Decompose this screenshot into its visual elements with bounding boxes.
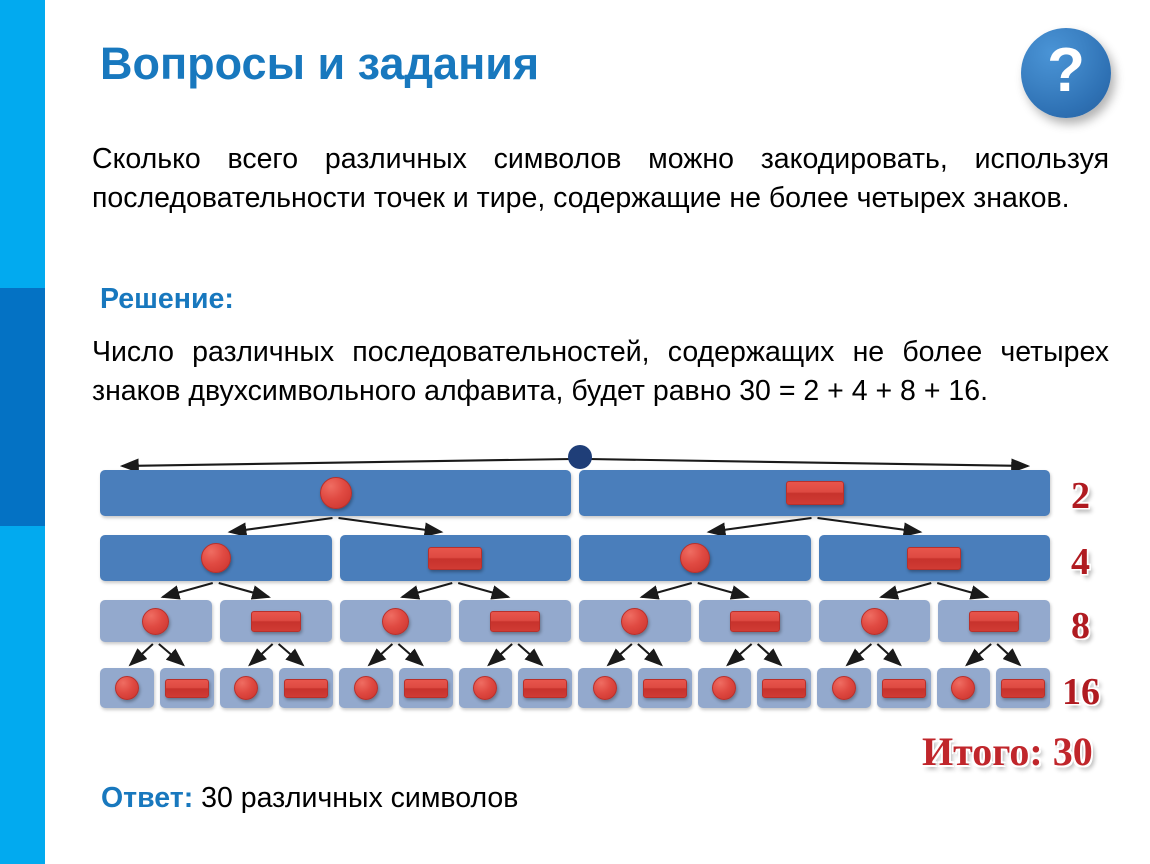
tree-node-level1-2 bbox=[579, 470, 1050, 516]
level-count-3: 8 bbox=[1071, 604, 1090, 648]
tree-node-level3-4 bbox=[459, 600, 571, 642]
morse-dot-icon bbox=[951, 676, 975, 700]
morse-dash-icon bbox=[762, 679, 806, 698]
tree-node-level4-10 bbox=[638, 668, 692, 708]
solution-label: Решение: bbox=[100, 283, 234, 316]
morse-dash-icon bbox=[969, 611, 1019, 632]
tree-node-level3-5 bbox=[579, 600, 691, 642]
tree-node-level4-5 bbox=[339, 668, 393, 708]
morse-dash-icon bbox=[882, 679, 926, 698]
tree-node-level4-15 bbox=[937, 668, 991, 708]
answer-line: Ответ: 30 различных символов bbox=[101, 782, 518, 815]
morse-dot-icon bbox=[712, 676, 736, 700]
morse-dot-icon bbox=[593, 676, 617, 700]
slide-root: ? Вопросы и задания Сколько всего различ… bbox=[0, 0, 1150, 864]
morse-dash-icon bbox=[490, 611, 540, 632]
tree-node-level4-7 bbox=[459, 668, 513, 708]
morse-dot-icon bbox=[115, 676, 139, 700]
morse-dot-icon bbox=[832, 676, 856, 700]
morse-dot-icon bbox=[621, 608, 648, 635]
morse-dash-icon bbox=[165, 679, 209, 698]
morse-dash-icon bbox=[786, 481, 844, 505]
morse-dot-icon bbox=[680, 543, 710, 573]
tree-node-level4-12 bbox=[757, 668, 811, 708]
tree-node-level3-7 bbox=[819, 600, 931, 642]
question-mark-icon[interactable]: ? bbox=[1021, 28, 1111, 118]
answer-label: Ответ: bbox=[101, 782, 193, 814]
answer-value: 30 различных символов bbox=[193, 782, 518, 814]
morse-dot-icon bbox=[201, 543, 231, 573]
level-count-4: 16 bbox=[1062, 670, 1100, 714]
question-mark-glyph: ? bbox=[1047, 40, 1085, 102]
tree-node-level2-2 bbox=[340, 535, 572, 581]
morse-dot-icon bbox=[861, 608, 888, 635]
tree-node-level2-3 bbox=[579, 535, 811, 581]
tree-node-level4-3 bbox=[220, 668, 274, 708]
morse-dot-icon bbox=[473, 676, 497, 700]
morse-dot-icon bbox=[382, 608, 409, 635]
tree-node-level4-9 bbox=[578, 668, 632, 708]
morse-dash-icon bbox=[907, 547, 961, 570]
tree-node-level4-4 bbox=[279, 668, 333, 708]
tree-node-level4-6 bbox=[399, 668, 453, 708]
sidebar-accent-bottom bbox=[0, 526, 45, 864]
tree-node-level4-1 bbox=[100, 668, 154, 708]
morse-dot-icon bbox=[320, 477, 352, 509]
morse-dash-icon bbox=[428, 547, 482, 570]
morse-dot-icon bbox=[142, 608, 169, 635]
morse-dash-icon bbox=[643, 679, 687, 698]
sidebar-accent-top bbox=[0, 0, 45, 288]
tree-node-level4-2 bbox=[160, 668, 214, 708]
tree-node-level2-4 bbox=[819, 535, 1051, 581]
morse-dash-icon bbox=[730, 611, 780, 632]
level-count-1: 2 bbox=[1071, 474, 1090, 518]
morse-dash-icon bbox=[284, 679, 328, 698]
tree-node-level4-14 bbox=[877, 668, 931, 708]
tree-node-level3-3 bbox=[340, 600, 452, 642]
total-label: Итого: 30 bbox=[922, 728, 1093, 775]
tree-node-level1-1 bbox=[100, 470, 571, 516]
tree-node-level4-8 bbox=[518, 668, 572, 708]
tree-node-level4-13 bbox=[817, 668, 871, 708]
solution-text: Число различных последовательностей, сод… bbox=[92, 333, 1109, 411]
morse-dash-icon bbox=[1001, 679, 1045, 698]
question-text: Сколько всего различных символов можно з… bbox=[92, 140, 1109, 218]
morse-dash-icon bbox=[251, 611, 301, 632]
morse-dot-icon bbox=[354, 676, 378, 700]
tree-node-level3-8 bbox=[938, 600, 1050, 642]
root-node bbox=[568, 445, 592, 469]
morse-dash-icon bbox=[523, 679, 567, 698]
morse-dot-icon bbox=[234, 676, 258, 700]
tree-node-level4-16 bbox=[996, 668, 1050, 708]
tree-node-level3-2 bbox=[220, 600, 332, 642]
tree-node-level3-6 bbox=[699, 600, 811, 642]
morse-dash-icon bbox=[404, 679, 448, 698]
level-count-2: 4 bbox=[1071, 540, 1090, 584]
tree-node-level3-1 bbox=[100, 600, 212, 642]
tree-node-level4-11 bbox=[698, 668, 752, 708]
page-title: Вопросы и задания bbox=[100, 38, 539, 90]
tree-node-level2-1 bbox=[100, 535, 332, 581]
sidebar-accent-middle bbox=[0, 288, 45, 526]
